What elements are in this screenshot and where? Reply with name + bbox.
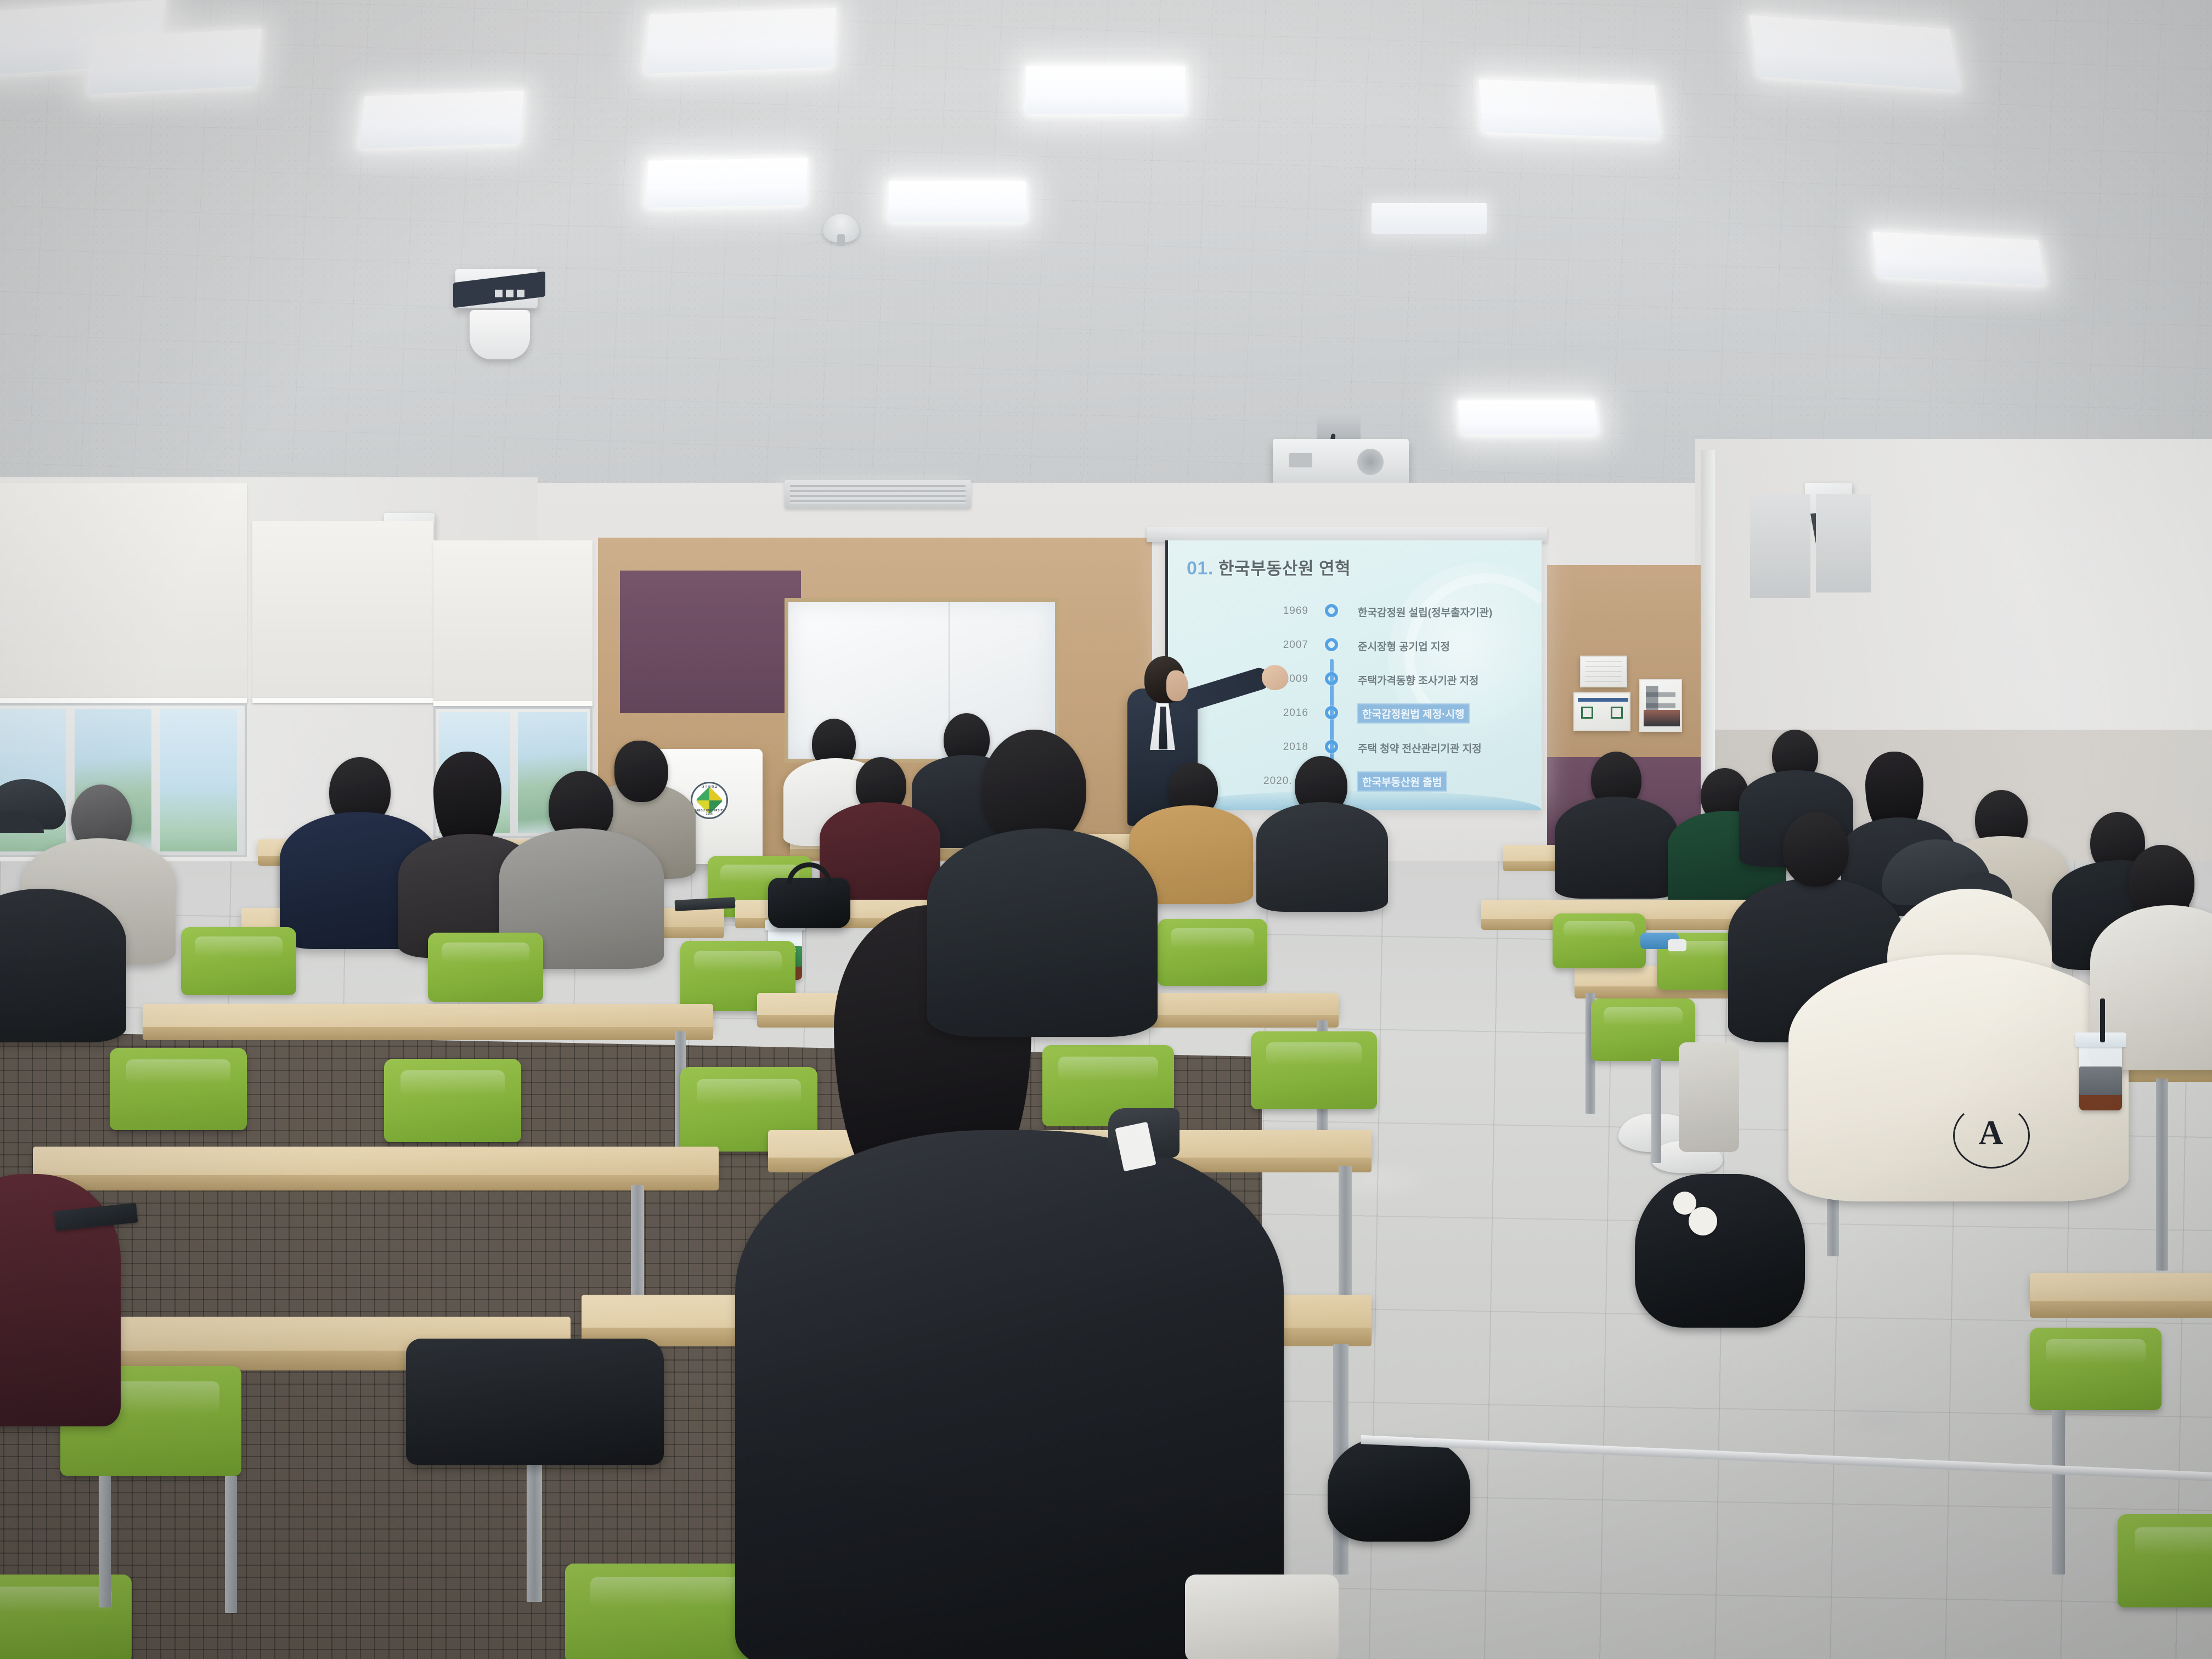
chair[interactable]	[181, 927, 296, 995]
air-vent-louvers	[790, 485, 966, 504]
presenter-face	[1166, 670, 1188, 701]
wall-poster-chart	[1639, 679, 1682, 732]
attendee-head	[614, 741, 668, 802]
daegu-university-seal-icon: 대 구 대 학 교 DAEGU UNIVERSITY 1956	[691, 782, 728, 819]
desk-edge	[143, 1027, 713, 1040]
projector	[1273, 439, 1409, 486]
window-blind-rail	[252, 698, 433, 703]
projection-screen-housing	[1147, 527, 1547, 542]
ceiling-light-panel	[1372, 203, 1487, 234]
timeline-event-highlighted: 한국감정원법 제정·시행	[1358, 704, 1469, 723]
timeline-year: 1969	[1250, 605, 1308, 617]
ceiling-light-panel	[89, 29, 262, 94]
desk-leg	[2156, 1079, 2168, 1271]
ceiling-light-panel	[1458, 400, 1599, 435]
slide-timeline: 1969 한국감정원 설립(정부출자기관) 2007 준시장형 공기업 지정 2…	[1250, 597, 1536, 802]
ceiling-light-panel	[889, 181, 1026, 222]
slide-title-text: 한국부동산원 연혁	[1218, 559, 1351, 578]
timeline-row: 2009 주택가격동향 조사기관 지정	[1250, 665, 1536, 699]
window-blind[interactable]	[252, 521, 433, 702]
chair-leg	[1651, 1059, 1661, 1163]
timeline-event: 주택가격동향 조사기관 지정	[1358, 673, 1479, 687]
desk-edge	[2030, 1301, 2212, 1318]
front-wall-purple-panel	[620, 571, 801, 713]
chair[interactable]	[1251, 1031, 1377, 1109]
timeline-dot-icon	[1325, 604, 1338, 617]
attendee-body	[1256, 802, 1388, 912]
timeline-event: 주택 청약 전산관리기관 지정	[1358, 741, 1482, 755]
timeline-year: 2018	[1250, 741, 1308, 753]
desk-edge	[33, 1175, 719, 1190]
classroom-photo: 01. 한국부동산원 연혁 1969 한국감정원 설립(정부출자기관) 2007…	[0, 0, 2212, 1659]
timeline-row: 2016 한국감정원법 제정·시행	[1250, 699, 1536, 733]
chair[interactable]	[1553, 913, 1646, 968]
projection-screen: 01. 한국부동산원 연혁 1969 한국감정원 설립(정부출자기관) 2007…	[1165, 540, 1542, 810]
iced-coffee-straw	[2100, 998, 2105, 1042]
ceiling-light-panel	[1026, 66, 1185, 114]
projector-ceiling-mount	[1317, 413, 1361, 442]
ceiling-light-panel	[359, 91, 524, 149]
attendee-body	[1788, 955, 2129, 1201]
iced-coffee-sleeve	[2079, 1066, 2122, 1095]
chair-leg	[2052, 1410, 2065, 1575]
wall-recess-panel	[1750, 494, 1810, 598]
poster-stamp-left	[1581, 707, 1593, 719]
timeline-event: 준시장형 공기업 지정	[1358, 639, 1450, 653]
window-blind[interactable]	[0, 483, 247, 702]
timeline-dot-icon	[1325, 706, 1338, 719]
foreground-person-lap-item	[1185, 1575, 1339, 1659]
seal-text-korean: 대 구 대 학 교	[692, 785, 726, 789]
hoodie-emblem-letter: A	[1973, 1114, 2009, 1153]
poster-image-block	[1644, 710, 1680, 726]
slide-title-number: 01	[1187, 558, 1208, 579]
chair[interactable]	[428, 933, 543, 1002]
desk	[2030, 1273, 2212, 1306]
chair-leg	[225, 1476, 237, 1613]
ceiling-light-panel	[645, 8, 837, 74]
slide-title: 01. 한국부동산원 연혁	[1187, 555, 1351, 579]
foreground-person-b-body	[927, 828, 1158, 1037]
bear-charm-icon	[1689, 1207, 1717, 1235]
chair[interactable]	[384, 1059, 521, 1142]
window-blind-rail	[433, 701, 592, 706]
wall-poster-certificate	[1573, 692, 1630, 731]
attendee-leg	[1679, 1042, 1739, 1152]
timeline-row: 2018 주택 청약 전산관리기관 지정	[1250, 733, 1536, 768]
ceiling-light-panel	[646, 157, 808, 207]
duffel-bag	[1328, 1437, 1470, 1542]
attendee-body	[1555, 797, 1678, 899]
seal-text-english: DAEGU UNIVERSITY 1956	[692, 809, 726, 816]
handbag	[768, 878, 850, 928]
projector-lens-icon	[1357, 449, 1384, 475]
poster-text-lines	[1585, 661, 1622, 682]
wall-recess-panel	[1816, 494, 1871, 592]
chair[interactable]	[2030, 1328, 2162, 1410]
wall-poster-notice	[1580, 656, 1627, 687]
desk	[33, 1147, 719, 1178]
slide-title-sep: .	[1208, 558, 1214, 579]
projector-secondary-buttons[interactable]	[495, 290, 527, 297]
ceiling-light-panel	[1872, 232, 2045, 285]
timeline-row: 2007 준시장형 공기업 지정	[1250, 631, 1536, 665]
window-glass	[160, 709, 237, 851]
chair[interactable]	[1158, 919, 1267, 986]
chair-leg	[99, 1476, 111, 1607]
projector-secondary-lens-housing	[470, 310, 530, 359]
timeline-dot-icon	[1325, 740, 1338, 753]
timeline-row: 1969 한국감정원 설립(정부출자기관)	[1250, 597, 1536, 631]
timeline-dot-icon	[1325, 672, 1338, 685]
window-blind[interactable]	[433, 540, 592, 705]
desk	[143, 1004, 713, 1030]
ceiling-light-panel	[1479, 79, 1660, 138]
poster-header-bar	[1578, 698, 1628, 702]
poster-stamp-right	[1611, 707, 1623, 719]
attendee-head	[1783, 812, 1849, 887]
draped-jacket	[406, 1339, 664, 1465]
timeline-event: 한국감정원 설립(정부출자기관)	[1358, 605, 1492, 619]
projector-vent	[1289, 453, 1312, 467]
timeline-year: 2007	[1250, 639, 1308, 651]
attendee-body	[0, 889, 126, 1042]
chair[interactable]	[110, 1048, 247, 1130]
chair[interactable]	[2118, 1514, 2212, 1607]
backpack	[1635, 1174, 1805, 1328]
timeline-event-highlighted: 한국부동산원 출범	[1358, 772, 1446, 791]
timeline-year: 2016	[1250, 707, 1308, 719]
window-blind-rail	[0, 698, 247, 703]
desk-item-white	[1668, 939, 1686, 951]
chair[interactable]	[0, 1575, 132, 1659]
timeline-dot-icon	[1325, 638, 1338, 651]
